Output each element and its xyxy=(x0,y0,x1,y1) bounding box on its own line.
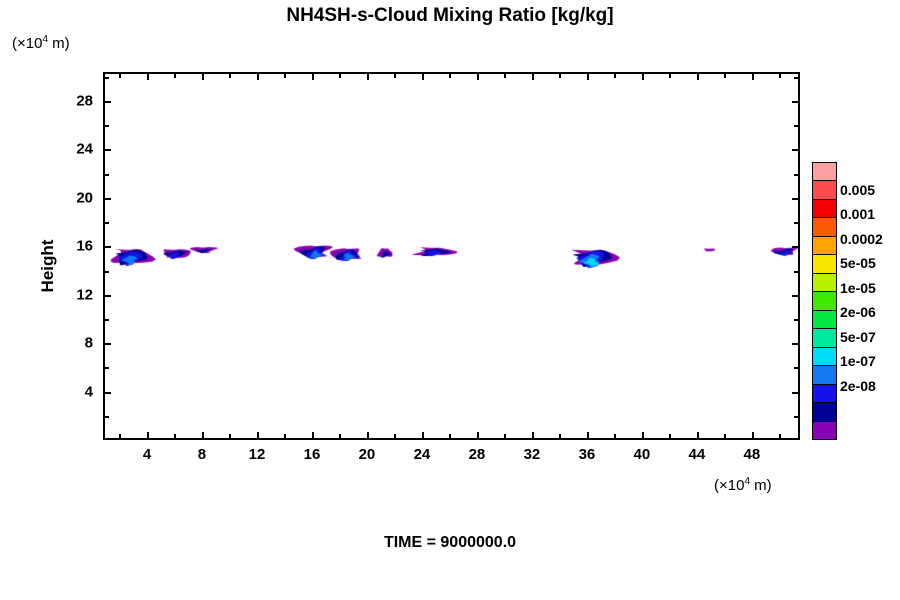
x-tick-top-12 xyxy=(257,73,259,80)
y-tick-8 xyxy=(104,343,111,345)
colorbar xyxy=(812,162,837,440)
colorbar-label-5e-05: 5e-05 xyxy=(840,255,876,271)
y-axis-title: Height xyxy=(38,206,58,326)
y-tick-label-20: 20 xyxy=(55,189,93,206)
plot-area xyxy=(103,72,800,440)
colorbar-cell-10 xyxy=(813,348,836,366)
colorbar-label-2e-06: 2e-06 xyxy=(840,304,876,320)
x-tick-46 xyxy=(724,434,726,439)
y-tick-16 xyxy=(104,246,111,248)
x-tick-top-16 xyxy=(312,73,314,80)
y-tick-right-8 xyxy=(792,343,799,345)
x-tick-26 xyxy=(449,434,451,439)
y-tick-right-6 xyxy=(794,367,799,369)
y-tick-right-4 xyxy=(792,392,799,394)
x-tick-36 xyxy=(587,432,589,439)
colorbar-cell-13 xyxy=(813,403,836,421)
x-tick-top-46 xyxy=(724,73,726,78)
y-tick-right-24 xyxy=(792,149,799,151)
x-tick-top-2 xyxy=(119,73,121,78)
x-tick-22 xyxy=(394,434,396,439)
y-tick-12 xyxy=(104,295,111,297)
x-tick-top-44 xyxy=(697,73,699,80)
x-tick-8 xyxy=(202,432,204,439)
y-tick-right-18 xyxy=(794,222,799,224)
y-tick-right-26 xyxy=(794,125,799,127)
x-tick-top-20 xyxy=(367,73,369,80)
x-tick-label-20: 20 xyxy=(359,446,376,463)
x-tick-40 xyxy=(642,432,644,439)
x-tick-34 xyxy=(559,434,561,439)
x-tick-label-24: 24 xyxy=(414,446,431,463)
x-tick-top-14 xyxy=(284,73,286,78)
x-tick-top-42 xyxy=(669,73,671,78)
colorbar-cell-1 xyxy=(813,181,836,199)
y-tick-6 xyxy=(104,367,109,369)
x-tick-4 xyxy=(147,432,149,439)
x-tick-14 xyxy=(284,434,286,439)
x-tick-label-16: 16 xyxy=(304,446,321,463)
x-tick-label-8: 8 xyxy=(198,446,206,463)
x-tick-top-36 xyxy=(587,73,589,80)
colorbar-label-2e-08: 2e-08 xyxy=(840,378,876,394)
x-tick-label-36: 36 xyxy=(579,446,596,463)
colorbar-cell-7 xyxy=(813,292,836,310)
x-tick-top-26 xyxy=(449,73,451,78)
y-tick-28 xyxy=(104,101,111,103)
colorbar-cell-6 xyxy=(813,274,836,292)
y-tick-right-22 xyxy=(794,174,799,176)
colorbar-cell-5 xyxy=(813,255,836,273)
colorbar-cell-9 xyxy=(813,329,836,347)
time-annotation: TIME = 9000000.0 xyxy=(0,534,900,552)
x-tick-6 xyxy=(174,434,176,439)
x-tick-top-34 xyxy=(559,73,561,78)
x-tick-top-50 xyxy=(779,73,781,78)
y-tick-label-28: 28 xyxy=(55,93,93,110)
y-tick-10 xyxy=(104,319,109,321)
y-tick-right-20 xyxy=(792,198,799,200)
y-tick-label-12: 12 xyxy=(55,286,93,303)
colorbar-cell-4 xyxy=(813,237,836,255)
x-tick-label-32: 32 xyxy=(524,446,541,463)
colorbar-label-0.001: 0.001 xyxy=(840,206,875,222)
x-tick-44 xyxy=(697,432,699,439)
y-tick-20 xyxy=(104,198,111,200)
x-tick-top-28 xyxy=(477,73,479,80)
x-tick-label-40: 40 xyxy=(634,446,651,463)
x-tick-30 xyxy=(504,434,506,439)
x-tick-48 xyxy=(752,432,754,439)
x-tick-top-38 xyxy=(614,73,616,78)
colorbar-label-0.0002: 0.0002 xyxy=(840,231,883,247)
x-tick-16 xyxy=(312,432,314,439)
x-tick-50 xyxy=(779,434,781,439)
y-tick-right-30 xyxy=(794,77,799,79)
y-axis-unit-label: (×104 m) xyxy=(12,34,70,52)
colorbar-cell-14 xyxy=(813,422,836,439)
x-tick-38 xyxy=(614,434,616,439)
x-tick-12 xyxy=(257,432,259,439)
colorbar-label-0.005: 0.005 xyxy=(840,182,875,198)
colorbar-cell-12 xyxy=(813,385,836,403)
colorbar-label-1e-07: 1e-07 xyxy=(840,353,876,369)
y-tick-22 xyxy=(104,174,109,176)
x-tick-top-18 xyxy=(339,73,341,78)
y-tick-4 xyxy=(104,392,111,394)
x-tick-top-24 xyxy=(422,73,424,80)
colorbar-label-1e-05: 1e-05 xyxy=(840,280,876,296)
y-tick-right-16 xyxy=(792,246,799,248)
y-tick-label-16: 16 xyxy=(55,238,93,255)
x-tick-label-28: 28 xyxy=(469,446,486,463)
x-tick-28 xyxy=(477,432,479,439)
x-tick-top-10 xyxy=(229,73,231,78)
y-tick-24 xyxy=(104,149,111,151)
y-tick-14 xyxy=(104,271,109,273)
x-tick-2 xyxy=(119,434,121,439)
x-tick-top-4 xyxy=(147,73,149,80)
x-axis-unit-label: (×104 m) xyxy=(714,476,772,494)
colorbar-cell-0 xyxy=(813,163,836,181)
y-tick-right-10 xyxy=(794,319,799,321)
y-tick-label-4: 4 xyxy=(55,383,93,400)
x-tick-top-30 xyxy=(504,73,506,78)
y-tick-18 xyxy=(104,222,109,224)
y-tick-26 xyxy=(104,125,109,127)
x-tick-label-48: 48 xyxy=(744,446,761,463)
x-tick-42 xyxy=(669,434,671,439)
y-tick-label-8: 8 xyxy=(55,335,93,352)
colorbar-label-5e-07: 5e-07 xyxy=(840,329,876,345)
x-tick-label-44: 44 xyxy=(689,446,706,463)
x-tick-20 xyxy=(367,432,369,439)
x-tick-top-32 xyxy=(532,73,534,80)
y-tick-right-28 xyxy=(792,101,799,103)
colorbar-cell-11 xyxy=(813,366,836,384)
y-tick-right-14 xyxy=(794,271,799,273)
x-tick-24 xyxy=(422,432,424,439)
x-tick-top-48 xyxy=(752,73,754,80)
x-tick-32 xyxy=(532,432,534,439)
y-tick-right-12 xyxy=(792,295,799,297)
x-tick-top-40 xyxy=(642,73,644,80)
y-tick-30 xyxy=(104,77,109,79)
y-tick-2 xyxy=(104,416,109,418)
y-tick-label-24: 24 xyxy=(55,141,93,158)
colorbar-cell-3 xyxy=(813,218,836,236)
x-tick-label-4: 4 xyxy=(143,446,151,463)
x-tick-label-12: 12 xyxy=(249,446,266,463)
x-tick-10 xyxy=(229,434,231,439)
colorbar-cell-2 xyxy=(813,200,836,218)
y-tick-right-2 xyxy=(794,416,799,418)
x-tick-top-6 xyxy=(174,73,176,78)
chart-title: NH4SH-s-Cloud Mixing Ratio [kg/kg] xyxy=(0,5,900,27)
figure-canvas: NH4SH-s-Cloud Mixing Ratio [kg/kg] (×104… xyxy=(0,0,900,600)
colorbar-cell-8 xyxy=(813,311,836,329)
x-tick-top-8 xyxy=(202,73,204,80)
x-tick-18 xyxy=(339,434,341,439)
x-tick-top-22 xyxy=(394,73,396,78)
contour-field xyxy=(105,74,798,438)
